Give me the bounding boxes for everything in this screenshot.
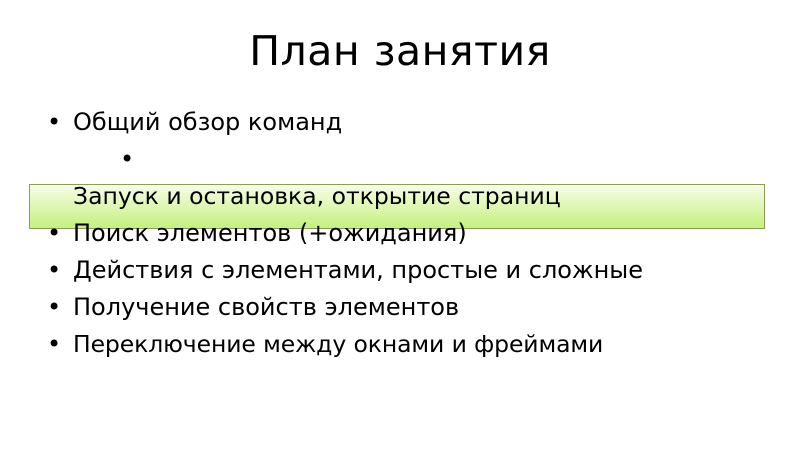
list-item[interactable]: • Получение свойств элементов <box>0 289 800 326</box>
page-title: План занятия <box>0 27 800 75</box>
list-item-label: Получение свойств элементов <box>73 289 770 326</box>
list-item-label: Общий обзор команд <box>73 104 770 141</box>
list-item-label: Переключение между окнами и фреймами <box>73 326 770 363</box>
list-item-label: Действия с элементами, простые и сложные <box>73 252 770 289</box>
bullet-point-icon: • <box>47 104 61 141</box>
list-item[interactable]: • Действия с элементами, простые и сложн… <box>0 252 800 289</box>
bullet-point-icon: • <box>120 145 134 173</box>
list-item[interactable]: • Поиск элементов (+ожидания) <box>0 215 800 252</box>
bullet-point-icon: • <box>47 252 61 289</box>
list-item-label: Поиск элементов (+ожидания) <box>73 215 770 252</box>
slide-canvas: План занятия • Общий обзор команд • Запу… <box>0 0 800 450</box>
list-item-label: Запуск и остановка, открытие страниц <box>73 178 770 215</box>
bullet-point-icon: • <box>47 326 61 363</box>
bullet-point-icon: • <box>47 289 61 326</box>
list-item[interactable]: • Общий обзор команд <box>0 104 800 141</box>
list-item[interactable]: • Переключение между окнами и фреймами <box>0 326 800 363</box>
bullet-point-icon: • <box>47 215 61 252</box>
agenda-bullet-list: • Общий обзор команд • Запуск и остановк… <box>0 104 800 363</box>
list-item-highlighted[interactable]: • Запуск и остановка, открытие страниц <box>0 141 800 215</box>
